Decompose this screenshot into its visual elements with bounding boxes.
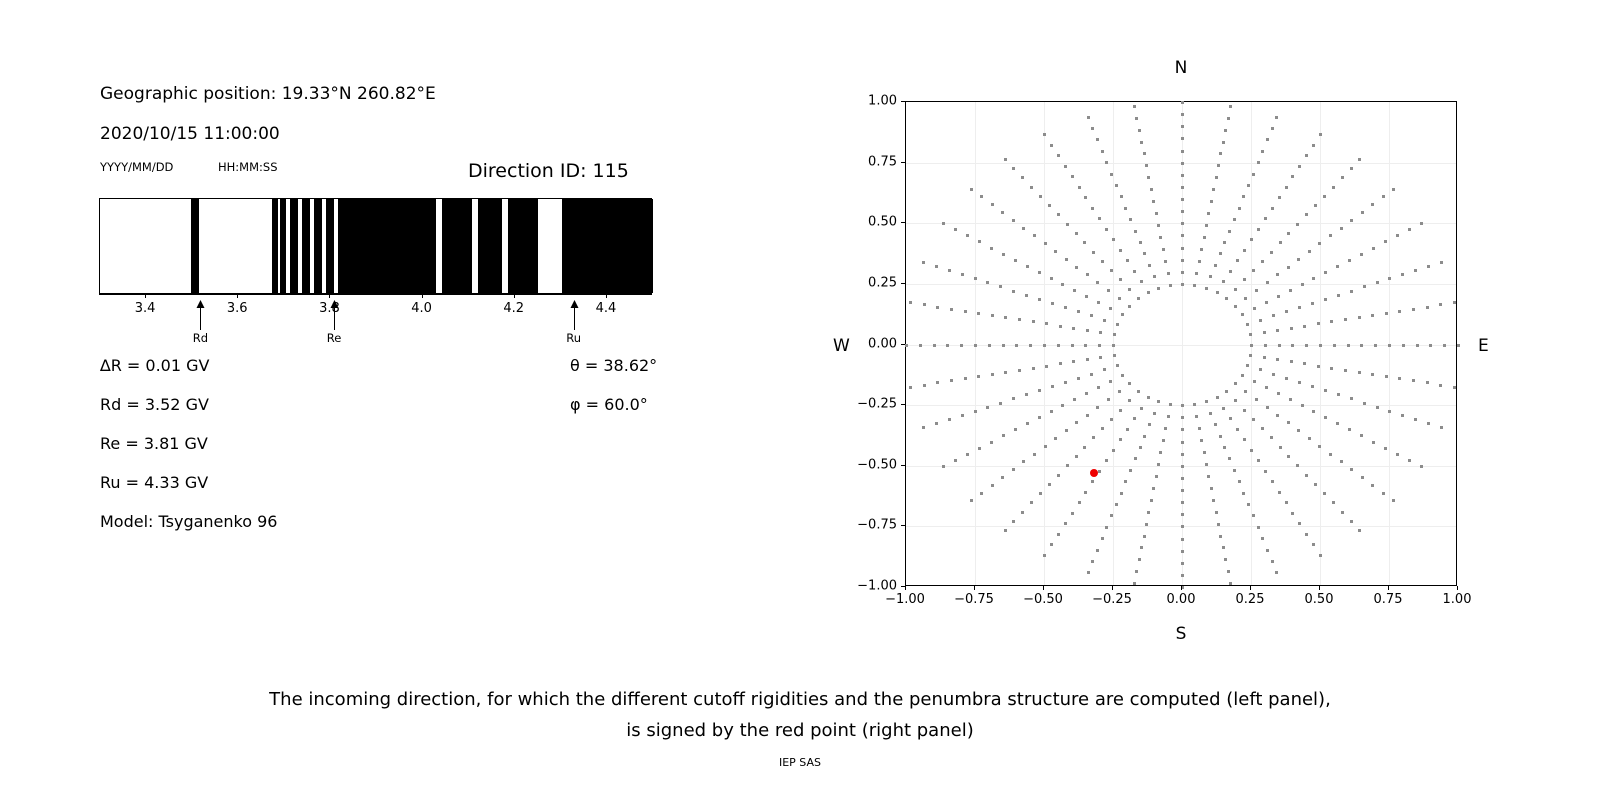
- direction-point: [1290, 360, 1293, 363]
- direction-point: [1065, 258, 1068, 261]
- direction-point: [978, 447, 981, 450]
- direction-point: [1200, 439, 1203, 442]
- direction-point: [1209, 275, 1212, 278]
- direction-point: [991, 314, 994, 317]
- param-ru: Ru = 4.33 GV: [100, 473, 208, 492]
- direction-point: [1243, 249, 1246, 252]
- direction-point: [1252, 269, 1255, 272]
- sky-xtick-label: −0.75: [954, 592, 994, 607]
- direction-point: [1004, 371, 1007, 374]
- direction-point: [1215, 511, 1218, 514]
- sky-ytick-label: −0.25: [857, 397, 897, 412]
- direction-point: [1361, 476, 1364, 479]
- direction-point: [1057, 474, 1060, 477]
- direction-point: [1147, 511, 1150, 514]
- direction-point: [1225, 390, 1228, 393]
- direction-point: [1252, 173, 1255, 176]
- rigidity-tick: [514, 294, 515, 298]
- direction-point: [1128, 305, 1131, 308]
- direction-point: [1215, 176, 1218, 179]
- direction-point: [1181, 259, 1184, 262]
- footer-credit: IEP SAS: [0, 756, 1600, 769]
- direction-point: [1291, 344, 1294, 347]
- direction-point: [1318, 445, 1321, 448]
- direction-point: [1371, 203, 1374, 206]
- direction-point: [1305, 344, 1308, 347]
- direction-point: [1001, 211, 1004, 214]
- direction-point: [1263, 331, 1266, 334]
- direction-point: [1090, 373, 1093, 376]
- direction-point: [1227, 570, 1230, 573]
- direction-point: [991, 373, 994, 376]
- direction-point: [1329, 453, 1332, 456]
- sky-xtick-label: −0.50: [1023, 592, 1063, 607]
- direction-point: [1140, 407, 1143, 410]
- forbidden-band: [272, 199, 278, 293]
- direction-point: [1181, 441, 1184, 444]
- direction-point: [1033, 453, 1036, 456]
- direction-point: [1289, 289, 1292, 292]
- sky-ytick-label: −1.00: [857, 579, 897, 594]
- direction-point: [1181, 162, 1184, 165]
- direction-point: [1264, 344, 1267, 347]
- direction-point: [1128, 382, 1131, 385]
- datetime-value: 2020/10/15 11:00:00: [100, 124, 280, 144]
- direction-point: [1336, 265, 1339, 268]
- forbidden-band: [280, 199, 286, 293]
- direction-point: [1066, 223, 1069, 226]
- sky-ytick-label: 0.00: [868, 336, 897, 351]
- rigidity-tick: [145, 294, 146, 298]
- direction-point: [1439, 384, 1442, 387]
- direction-point: [1181, 198, 1184, 201]
- direction-point: [1002, 344, 1005, 347]
- direction-point: [1384, 447, 1387, 450]
- direction-point: [1270, 436, 1273, 439]
- direction-point: [1303, 362, 1306, 365]
- direction-point: [1234, 288, 1237, 291]
- direction-point: [1312, 543, 1315, 546]
- direction-point: [1276, 273, 1279, 276]
- direction-point: [1157, 400, 1160, 403]
- direction-point: [948, 418, 951, 421]
- direction-point: [1347, 344, 1350, 347]
- direction-point: [1038, 271, 1041, 274]
- direction-point: [1115, 503, 1118, 506]
- direction-point: [1259, 368, 1262, 371]
- direction-point: [1120, 195, 1123, 198]
- direction-point: [1012, 219, 1015, 222]
- direction-id-label: Direction ID: 115: [468, 160, 629, 182]
- direction-point: [1155, 212, 1158, 215]
- direction-point: [1054, 437, 1057, 440]
- rigidity-tick-label: 4.4: [596, 301, 617, 316]
- direction-point: [1344, 369, 1347, 372]
- direction-point: [1135, 570, 1138, 573]
- direction-point: [1330, 367, 1333, 370]
- direction-point: [1193, 284, 1196, 287]
- direction-point: [1361, 211, 1364, 214]
- direction-point: [1246, 364, 1249, 367]
- sky-ytick: [901, 465, 905, 466]
- direction-point: [1212, 499, 1215, 502]
- direction-point: [1246, 323, 1249, 326]
- direction-point: [1086, 414, 1089, 417]
- direction-point: [1181, 271, 1184, 274]
- direction-point: [1214, 423, 1217, 426]
- direction-point: [1086, 273, 1089, 276]
- direction-point: [1453, 301, 1456, 304]
- direction-point: [1103, 368, 1106, 371]
- direction-point: [1157, 287, 1160, 290]
- direction-point: [1015, 344, 1018, 347]
- direction-point: [1087, 116, 1090, 119]
- forbidden-band: [326, 199, 334, 293]
- direction-point: [1233, 218, 1236, 221]
- direction-point: [1205, 400, 1208, 403]
- direction-point: [1133, 582, 1136, 585]
- direction-point: [1115, 184, 1118, 187]
- direction-point: [1266, 406, 1269, 409]
- direction-point: [1064, 381, 1067, 384]
- direction-point: [1308, 250, 1311, 253]
- direction-point: [1271, 560, 1274, 563]
- direction-point: [1420, 465, 1423, 468]
- direction-point: [1121, 313, 1124, 316]
- direction-point: [1071, 512, 1074, 515]
- direction-point: [974, 277, 977, 280]
- direction-point: [1096, 281, 1099, 284]
- direction-point: [1181, 113, 1184, 116]
- direction-point: [1084, 344, 1087, 347]
- direction-point: [1110, 418, 1113, 421]
- direction-point: [1026, 265, 1029, 268]
- penumbra-chart: [99, 198, 652, 294]
- direction-point: [1164, 427, 1167, 430]
- direction-point: [1083, 241, 1086, 244]
- direction-point: [1372, 441, 1375, 444]
- direction-point: [1271, 127, 1274, 130]
- direction-point: [1167, 415, 1170, 418]
- direction-point: [1252, 418, 1255, 421]
- direction-point: [1018, 369, 1021, 372]
- forbidden-band: [478, 199, 502, 293]
- direction-point: [1358, 529, 1361, 532]
- direction-point: [1044, 242, 1047, 245]
- direction-point: [1092, 436, 1095, 439]
- direction-point: [1296, 464, 1299, 467]
- direction-point: [950, 308, 953, 311]
- direction-point: [1148, 423, 1151, 426]
- sky-xtick-label: 0.25: [1236, 592, 1265, 607]
- direction-point: [1270, 251, 1273, 254]
- direction-point: [986, 281, 989, 284]
- direction-point: [1371, 373, 1374, 376]
- sky-ytick-label: −0.75: [857, 518, 897, 533]
- direction-point: [1330, 320, 1333, 323]
- sky-xtick: [1319, 586, 1320, 590]
- direction-point: [1159, 451, 1162, 454]
- compass-label-east: E: [1478, 336, 1489, 356]
- direction-point: [1077, 310, 1080, 313]
- direction-point: [1124, 207, 1127, 210]
- direction-point: [1363, 402, 1366, 405]
- direction-point: [1301, 283, 1304, 286]
- param-re: Re = 3.81 GV: [100, 434, 208, 453]
- direction-point: [1360, 253, 1363, 256]
- direction-point: [1249, 354, 1252, 357]
- direction-point: [1113, 333, 1116, 336]
- direction-point: [1107, 289, 1110, 292]
- direction-point: [1140, 546, 1143, 549]
- direction-point: [1159, 236, 1162, 239]
- direction-point: [1290, 327, 1293, 330]
- direction-point: [1227, 117, 1230, 120]
- direction-point: [1119, 278, 1122, 281]
- direction-point: [1133, 417, 1136, 420]
- direction-point: [1119, 438, 1122, 441]
- direction-point: [1385, 375, 1388, 378]
- direction-point: [1101, 537, 1104, 540]
- direction-point: [1344, 318, 1347, 321]
- direction-point: [974, 410, 977, 413]
- figure-caption: The incoming direction, for which the di…: [0, 684, 1600, 746]
- direction-point: [999, 285, 1002, 288]
- direction-point: [1119, 409, 1122, 412]
- direction-point: [1207, 475, 1210, 478]
- direction-point: [1385, 312, 1388, 315]
- sky-ytick-label: 0.25: [868, 275, 897, 290]
- direction-point: [1012, 397, 1015, 400]
- sky-ytick-label: 0.75: [868, 154, 897, 169]
- direction-point: [1124, 480, 1127, 483]
- direction-point: [1152, 487, 1155, 490]
- direction-point: [1324, 416, 1327, 419]
- direction-point: [977, 375, 980, 378]
- direction-point: [1457, 344, 1460, 347]
- direction-point: [1116, 364, 1119, 367]
- direction-point: [1229, 105, 1232, 108]
- compass-label-south: S: [1176, 624, 1187, 644]
- direction-point: [1271, 207, 1274, 210]
- direction-point: [1071, 175, 1074, 178]
- direction-point: [1203, 451, 1206, 454]
- direction-point: [1253, 307, 1256, 310]
- selected-direction-marker: [1090, 469, 1098, 477]
- direction-point: [1181, 525, 1184, 528]
- direction-point: [1050, 277, 1053, 280]
- direction-point: [1372, 247, 1375, 250]
- forbidden-band: [562, 199, 653, 293]
- date-format-hint: YYYY/MM/DD: [100, 160, 173, 174]
- direction-point: [1091, 560, 1094, 563]
- sky-xtick: [1250, 586, 1251, 590]
- direction-point: [1319, 554, 1322, 557]
- compass-label-north: N: [1175, 58, 1188, 78]
- direction-point: [1087, 571, 1090, 574]
- direction-point: [1291, 175, 1294, 178]
- direction-point: [1305, 213, 1308, 216]
- direction-point: [1319, 344, 1322, 347]
- direction-point: [1057, 213, 1060, 216]
- direction-point: [1392, 188, 1395, 191]
- direction-point: [909, 301, 912, 304]
- direction-point: [1234, 305, 1237, 308]
- direction-point: [1038, 416, 1041, 419]
- direction-point: [1318, 242, 1321, 245]
- direction-point: [1412, 308, 1415, 311]
- compass-label-west: W: [833, 336, 850, 356]
- direction-point: [1348, 428, 1351, 431]
- direction-point: [1096, 549, 1099, 552]
- direction-point: [964, 310, 967, 313]
- direction-point: [1350, 219, 1353, 222]
- caption-line-1: The incoming direction, for which the di…: [0, 684, 1600, 715]
- direction-point: [1054, 250, 1057, 253]
- direction-point: [1243, 278, 1246, 281]
- direction-point: [1119, 249, 1122, 252]
- direction-point: [1241, 374, 1244, 377]
- direction-point: [1043, 554, 1046, 557]
- direction-point: [1181, 210, 1184, 213]
- direction-point: [1110, 269, 1113, 272]
- direction-point: [1223, 446, 1226, 449]
- direction-point: [991, 203, 994, 206]
- direction-point: [1181, 453, 1184, 456]
- direction-point: [1025, 294, 1028, 297]
- direction-point: [1287, 421, 1290, 424]
- sky-xtick: [905, 586, 906, 590]
- direction-point: [1241, 313, 1244, 316]
- direction-point: [1225, 297, 1228, 300]
- direction-point: [1169, 403, 1172, 406]
- param-delta-r: ∆R = 0.01 GV: [100, 356, 209, 375]
- direction-point: [1073, 398, 1076, 401]
- direction-point: [1440, 261, 1443, 264]
- direction-point: [1308, 437, 1311, 440]
- direction-point: [1426, 306, 1429, 309]
- direction-point: [1072, 327, 1075, 330]
- direction-point: [1198, 260, 1201, 263]
- direction-point: [1242, 492, 1245, 495]
- sky-ytick-label: 0.50: [868, 215, 897, 230]
- direction-point: [1061, 404, 1064, 407]
- direction-point: [1135, 117, 1138, 120]
- direction-point: [1224, 558, 1227, 561]
- direction-point: [942, 465, 945, 468]
- direction-point: [1167, 272, 1170, 275]
- direction-point: [1427, 265, 1430, 268]
- direction-point: [1181, 125, 1184, 128]
- direction-point: [1086, 358, 1089, 361]
- direction-point: [1371, 314, 1374, 317]
- direction-point: [1243, 409, 1246, 412]
- direction-point: [1112, 344, 1115, 347]
- sky-map-panel: N S W E −1.00−0.75−0.50−0.250.000.250.50…: [800, 0, 1600, 660]
- direction-point: [1098, 470, 1101, 473]
- direction-point: [1340, 460, 1343, 463]
- sky-ytick: [901, 222, 905, 223]
- direction-point: [1021, 176, 1024, 179]
- direction-point: [1162, 439, 1165, 442]
- direction-point: [1236, 259, 1239, 262]
- direction-point: [1071, 344, 1074, 347]
- direction-point: [1279, 446, 1282, 449]
- sky-xtick-label: 1.00: [1443, 592, 1472, 607]
- direction-point: [1118, 297, 1121, 300]
- direction-point: [1181, 465, 1184, 468]
- direction-point: [936, 306, 939, 309]
- direction-point: [1301, 404, 1304, 407]
- direction-point: [1265, 386, 1268, 389]
- direction-point: [1312, 144, 1315, 147]
- direction-point: [1101, 260, 1104, 263]
- direction-point: [1216, 291, 1219, 294]
- direction-point: [1285, 501, 1288, 504]
- direction-point: [1311, 302, 1314, 305]
- direction-point: [1317, 365, 1320, 368]
- direction-point: [1358, 158, 1361, 161]
- direction-point: [1039, 492, 1042, 495]
- direction-point: [1126, 259, 1129, 262]
- direction-point: [1358, 371, 1361, 374]
- direction-point: [1140, 141, 1143, 144]
- direction-point: [1228, 457, 1231, 460]
- forbidden-band: [314, 199, 322, 293]
- direction-point: [1259, 319, 1262, 322]
- direction-point: [1229, 270, 1232, 273]
- direction-point: [1216, 396, 1219, 399]
- direction-point: [974, 344, 977, 347]
- direction-point: [923, 303, 926, 306]
- marker-arrowhead-ru: [570, 300, 578, 308]
- direction-point: [1289, 398, 1292, 401]
- direction-point: [966, 234, 969, 237]
- sky-xtick-label: −1.00: [885, 592, 925, 607]
- direction-point: [1376, 406, 1379, 409]
- direction-point: [1033, 234, 1036, 237]
- direction-point: [1287, 266, 1290, 269]
- direction-point: [1297, 429, 1300, 432]
- direction-point: [1137, 297, 1140, 300]
- direction-point: [1066, 464, 1069, 467]
- direction-point: [1252, 514, 1255, 517]
- direction-point: [1401, 414, 1404, 417]
- direction-point: [1250, 344, 1253, 347]
- direction-point: [1181, 416, 1184, 419]
- direction-point: [1025, 393, 1028, 396]
- direction-point: [1039, 195, 1042, 198]
- direction-point: [1116, 323, 1119, 326]
- direction-point: [1105, 459, 1108, 462]
- direction-point: [1181, 234, 1184, 237]
- direction-point: [1222, 141, 1225, 144]
- forbidden-band: [302, 199, 310, 293]
- direction-point: [1374, 344, 1377, 347]
- param-theta: θ = 38.62°: [570, 356, 657, 375]
- direction-point: [1278, 196, 1281, 199]
- direction-point: [1181, 404, 1184, 407]
- direction-point: [1140, 280, 1143, 283]
- rigidity-tick-label: 3.4: [135, 301, 156, 316]
- direction-point: [1045, 322, 1048, 325]
- direction-point: [980, 492, 983, 495]
- direction-point: [1427, 422, 1430, 425]
- direction-point: [1078, 501, 1081, 504]
- sky-xtick-label: 0.75: [1374, 592, 1403, 607]
- direction-point: [970, 188, 973, 191]
- direction-point: [1350, 397, 1353, 400]
